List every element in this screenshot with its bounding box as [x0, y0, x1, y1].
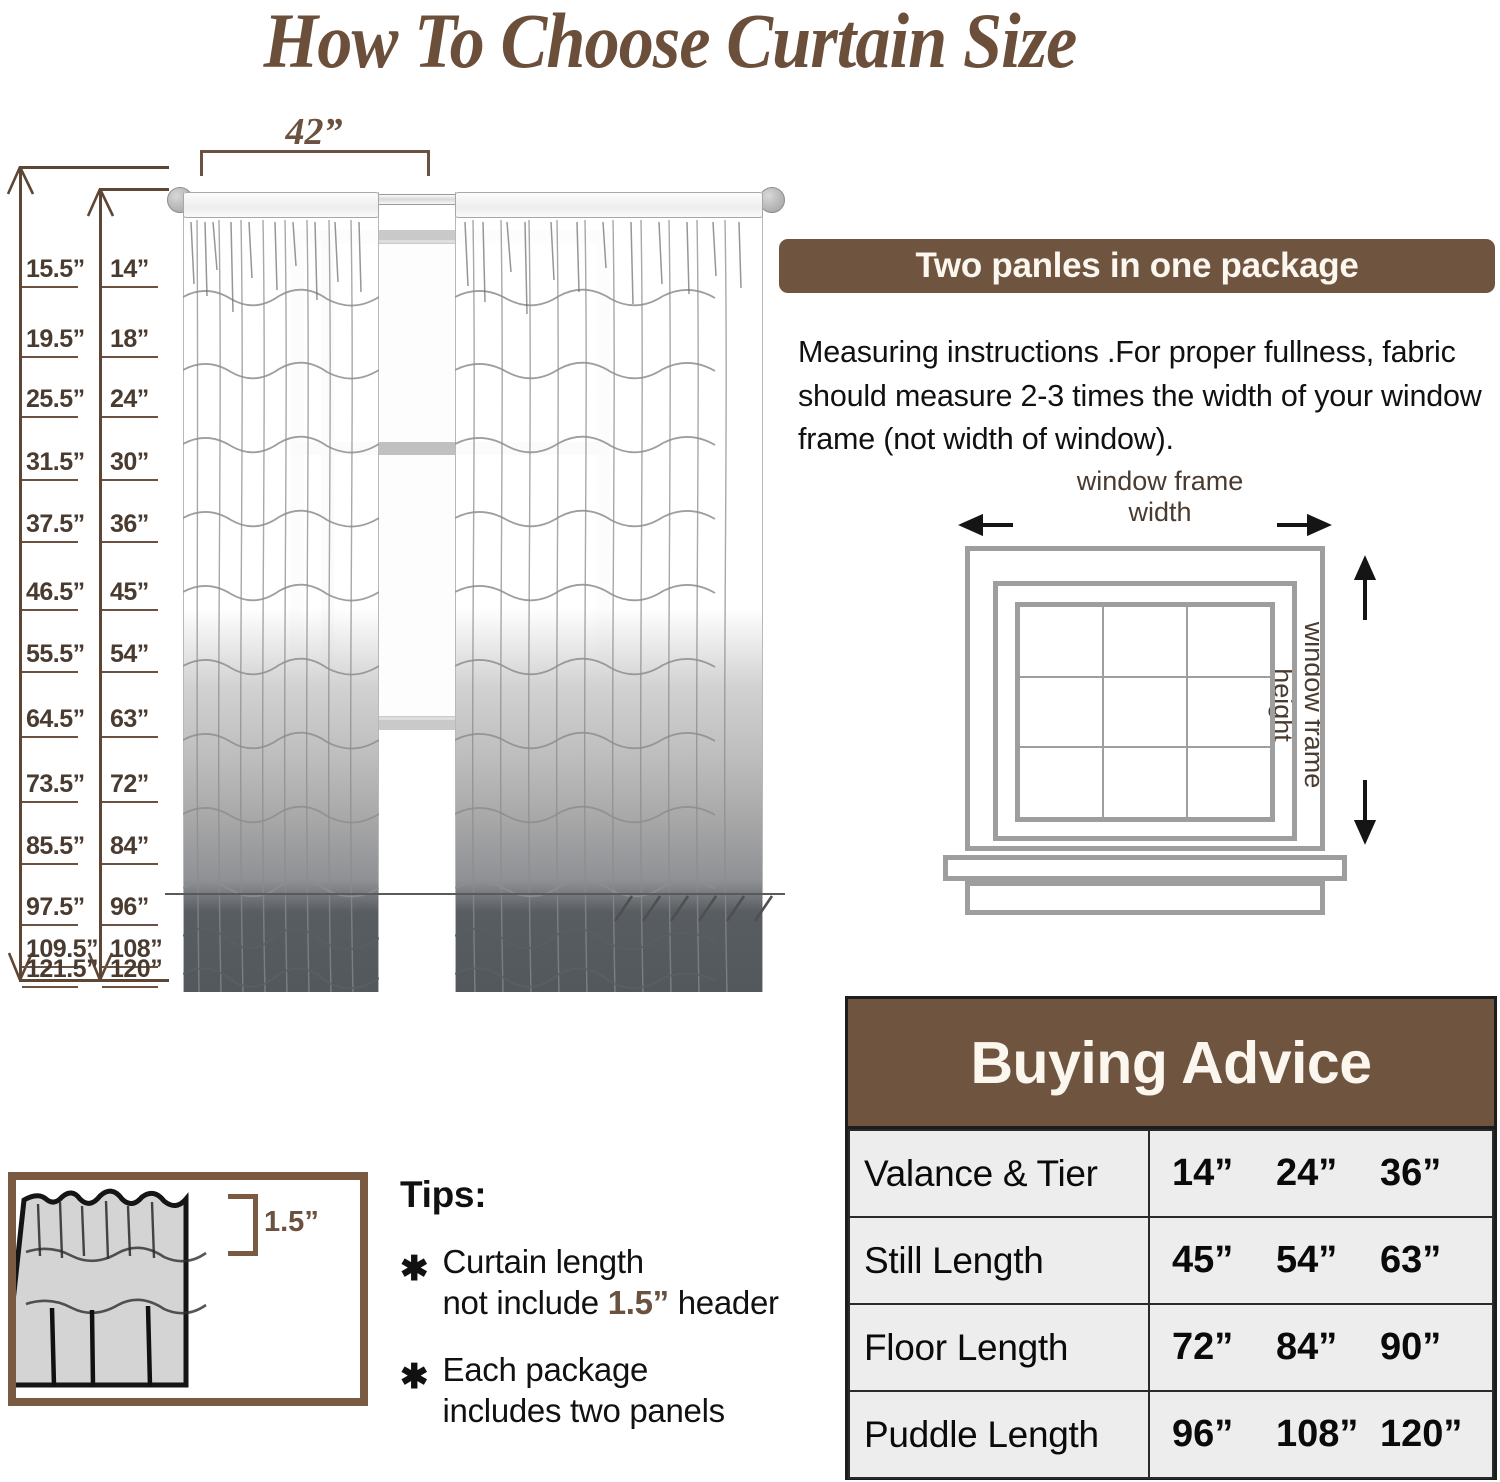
tips-item-2-line1: Each package — [443, 1351, 649, 1388]
window-pane — [1186, 605, 1272, 678]
window-sill — [943, 855, 1347, 881]
ruler-tick — [102, 986, 158, 988]
ruler-total-label: 19.5” — [26, 325, 85, 354]
tips-item-1-line1: Curtain length — [443, 1243, 644, 1280]
ruler-total-label: 46.5” — [26, 578, 85, 607]
advice-label-cell: Puddle Length — [849, 1391, 1149, 1478]
buying-advice-table: Valance & Tier14”24”36”Still Length45”54… — [848, 1129, 1494, 1479]
ruler-total-label: 55.5” — [26, 640, 85, 669]
floor-line — [165, 893, 785, 933]
ruler-tick — [22, 671, 78, 673]
ruler-tick — [22, 356, 78, 358]
window-pane — [1018, 605, 1104, 678]
ruler-curtain-label: 30” — [110, 448, 149, 477]
ruler-total-label: 25.5” — [26, 385, 85, 414]
advice-value: 63” — [1380, 1239, 1484, 1282]
ruler-total-label: 85.5” — [26, 832, 85, 861]
header-height-label: 1.5” — [264, 1206, 319, 1239]
measuring-instructions: Measuring instructions .For proper fulln… — [798, 331, 1498, 462]
ruler-tick — [102, 356, 158, 358]
tips-item-2: ✱ Each package includes two panels — [400, 1350, 860, 1432]
tips-item-2-line2: includes two panels — [443, 1392, 725, 1429]
ruler-tick — [22, 863, 78, 865]
advice-label-cell: Valance & Tier — [849, 1130, 1149, 1217]
ruler-curtain-label: 54” — [110, 640, 149, 669]
table-row: Puddle Length96”108”120” — [849, 1391, 1493, 1478]
ruler-curtain-label: 24” — [110, 385, 149, 414]
header-height-dimension — [228, 1194, 258, 1256]
ruler-tick — [22, 801, 78, 803]
table-row: Valance & Tier14”24”36” — [849, 1130, 1493, 1217]
advice-value: 72” — [1172, 1326, 1276, 1369]
window-pane — [1018, 746, 1104, 819]
ruler-tick — [102, 609, 158, 611]
ruler-tick — [22, 986, 78, 988]
tips-item-1-line2a: not include — [443, 1284, 608, 1321]
window-width-caption: window frame width — [995, 466, 1325, 528]
ruler-curtain-label: 18” — [110, 325, 149, 354]
ruler-curtain-label: 14” — [110, 255, 149, 284]
floor-hatching — [165, 893, 785, 933]
window-outer-frame — [965, 546, 1325, 851]
window-pane — [1102, 605, 1188, 678]
advice-label-cell: Floor Length — [849, 1304, 1149, 1391]
width-dimension-bar — [200, 150, 428, 153]
ruler-tick — [102, 479, 158, 481]
tips-item-1-highlight: 1.5” — [608, 1284, 669, 1321]
ruler-curtain-label: 63” — [110, 705, 149, 734]
ruler-total-label: 73.5” — [26, 770, 85, 799]
window-pane — [1186, 746, 1272, 819]
advice-value: 90” — [1380, 1326, 1484, 1369]
tips-item-1-line2b: header — [669, 1284, 779, 1321]
ruler-inner-top-link — [99, 188, 169, 191]
buying-advice-title: Buying Advice — [970, 1029, 1371, 1097]
package-banner-label: Two panles in one package — [915, 246, 1358, 286]
advice-values-cell: 14”24”36” — [1149, 1130, 1493, 1217]
window-panes-grid — [1015, 602, 1275, 822]
ruler-outer-top-link — [19, 166, 169, 169]
width-dimension-label: 42” — [200, 110, 428, 154]
curtain-panel-right — [455, 192, 763, 992]
ruler-tick — [22, 416, 78, 418]
curtain-panel-left — [183, 192, 379, 992]
ruler-total-label: 15.5” — [26, 255, 85, 284]
ruler-total-label: 64.5” — [26, 705, 85, 734]
ruler-tick — [102, 541, 158, 543]
tips-item-1-text: Curtain length not include 1.5” header — [443, 1242, 779, 1324]
ruler-outer-axis — [19, 166, 22, 982]
window-pane — [1018, 676, 1104, 749]
advice-value: 54” — [1276, 1239, 1380, 1282]
table-row: Floor Length72”84”90” — [849, 1304, 1493, 1391]
advice-label-cell: Still Length — [849, 1217, 1149, 1304]
ruler-tick — [102, 801, 158, 803]
asterisk-icon: ✱ — [400, 1360, 429, 1394]
ruler-curtain-label: 84” — [110, 832, 149, 861]
ruler-tick — [102, 416, 158, 418]
window-frame-diagram: window frame width window frame height — [925, 470, 1400, 930]
ruler-curtain-label: 45” — [110, 578, 149, 607]
asterisk-icon: ✱ — [400, 1252, 429, 1286]
ruler-tick — [102, 924, 158, 926]
ruler-curtain-label: 36” — [110, 510, 149, 539]
advice-value: 24” — [1276, 1152, 1380, 1195]
advice-value: 45” — [1172, 1239, 1276, 1282]
tips-item-1: ✱ Curtain length not include 1.5” header — [400, 1242, 860, 1324]
ruler-tick — [22, 924, 78, 926]
advice-values-cell: 72”84”90” — [1149, 1304, 1493, 1391]
advice-value: 14” — [1172, 1152, 1276, 1195]
advice-value: 96” — [1172, 1413, 1276, 1456]
ruler-tick — [102, 863, 158, 865]
buying-advice-card: Buying Advice Valance & Tier14”24”36”Sti… — [845, 996, 1497, 1480]
ruler-total-label: 31.5” — [26, 448, 85, 477]
window-apron — [965, 881, 1325, 915]
advice-value: 84” — [1276, 1326, 1380, 1369]
advice-value: 36” — [1380, 1152, 1484, 1195]
ruler-total-label: 97.5” — [26, 893, 85, 922]
window-pane — [1102, 746, 1188, 819]
ruler-tick — [102, 286, 158, 288]
window-inner-frame — [993, 581, 1297, 841]
curtain-illustration — [165, 170, 785, 990]
buying-advice-header: Buying Advice — [848, 999, 1494, 1129]
ruler-curtain-label: 96” — [110, 893, 149, 922]
table-row: Still Length45”54”63” — [849, 1217, 1493, 1304]
advice-values-cell: 45”54”63” — [1149, 1217, 1493, 1304]
window-width-caption-line2: width — [1128, 497, 1191, 527]
ruler-total-label: 121.5” — [26, 955, 98, 984]
header-detail-photo: 1.5” — [8, 1172, 368, 1406]
ruler-curtain-label: 72” — [110, 770, 149, 799]
ruler-curtain-label: 120” — [110, 955, 162, 984]
ruler-tick — [22, 541, 78, 543]
advice-value: 108” — [1276, 1413, 1380, 1456]
ruler-total-label: 37.5” — [26, 510, 85, 539]
ruler-tick — [22, 609, 78, 611]
ruler-tick — [22, 286, 78, 288]
page-title: How To Choose Curtain Size — [67, 0, 1273, 86]
ruler-tick — [22, 736, 78, 738]
package-banner: Two panles in one package — [779, 239, 1495, 293]
window-pane — [1102, 676, 1188, 749]
window-pane — [1186, 676, 1272, 749]
advice-values-cell: 96”108”120” — [1149, 1391, 1493, 1478]
advice-value: 120” — [1380, 1413, 1484, 1456]
ruler-tick — [22, 479, 78, 481]
tips-item-2-text: Each package includes two panels — [443, 1350, 725, 1432]
tips-block: Tips: ✱ Curtain length not include 1.5” … — [400, 1174, 860, 1432]
window-width-caption-line1: window frame — [1077, 466, 1244, 496]
ruler-tick — [102, 736, 158, 738]
ruler-tick — [102, 671, 158, 673]
tips-heading: Tips: — [400, 1174, 860, 1216]
